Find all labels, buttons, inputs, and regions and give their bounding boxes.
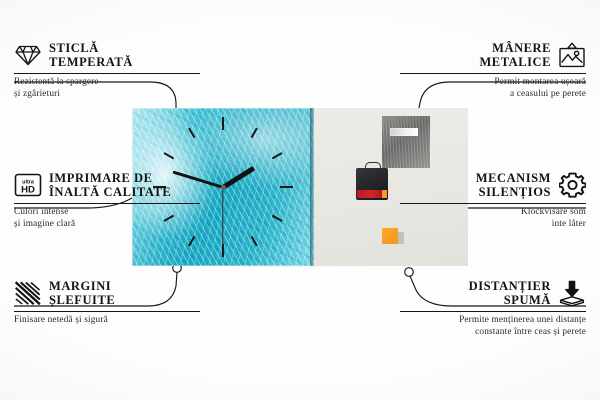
feature-rule xyxy=(14,203,200,204)
feature-title: IMPRIMARE DE ÎNALTĂ CALITATE xyxy=(49,171,171,200)
feature-subtitle: Klockvisare som inte låter xyxy=(400,207,586,231)
metal-hanger-plate xyxy=(382,116,430,168)
feature-header: MECANISM SILENȚIOS xyxy=(400,170,586,200)
battery xyxy=(357,190,387,198)
feature-rule xyxy=(14,73,200,74)
feature-title: MÂNERE METALICE xyxy=(479,41,551,70)
feature-metal-handles: MÂNERE METALICE Permit montarea ușoară a… xyxy=(400,40,586,101)
feature-rule xyxy=(400,311,586,312)
clock-movement-box xyxy=(356,168,388,200)
feature-rule xyxy=(400,73,586,74)
feature-high-quality-print: ultra HD IMPRIMARE DE ÎNALTĂ CALITATE Cu… xyxy=(14,170,200,231)
feature-title: STICLĂ TEMPERATĂ xyxy=(49,41,133,70)
feature-subtitle: Permite menținerea unei distanțe constan… xyxy=(400,315,586,339)
feature-tempered-glass: STICLĂ TEMPERATĂ Rezistentă la spargere … xyxy=(14,40,200,101)
feature-foam-spacer: DISTANȚIER SPUMĂ Permite menținerea unei… xyxy=(400,278,586,339)
feature-subtitle: Permit montarea ușoară a ceasului pe per… xyxy=(400,77,586,101)
product-infographic: STICLĂ TEMPERATĂ Rezistentă la spargere … xyxy=(0,0,600,400)
feature-silent-movement: MECANISM SILENȚIOS Klockvisare som inte … xyxy=(400,170,586,231)
feature-rule xyxy=(400,203,586,204)
battery-terminal xyxy=(382,190,387,198)
feature-rule xyxy=(14,311,200,312)
gear-icon xyxy=(558,171,586,199)
feature-title: DISTANȚIER SPUMĂ xyxy=(469,279,551,308)
feature-polished-edges: MARGINI ȘLEFUITE Finisare netedă și sigu… xyxy=(14,278,200,327)
feature-header: DISTANȚIER SPUMĂ xyxy=(400,278,586,308)
hanger-slot xyxy=(390,128,418,136)
feature-header: MARGINI ȘLEFUITE xyxy=(14,278,200,308)
diamond-icon xyxy=(14,41,42,69)
foam-spacer-arrow-icon xyxy=(558,279,586,307)
feature-subtitle: Rezistentă la spargere și zgârieturi xyxy=(14,77,200,101)
feature-title: MECANISM SILENȚIOS xyxy=(476,171,551,200)
feature-subtitle: Finisare netedă și sigură xyxy=(14,315,200,327)
polished-edges-icon xyxy=(14,279,42,307)
feature-header: ultra HD IMPRIMARE DE ÎNALTĂ CALITATE xyxy=(14,170,200,200)
feature-header: STICLĂ TEMPERATĂ xyxy=(14,40,200,70)
feature-subtitle: Culori intense și imagine clară xyxy=(14,207,200,231)
feature-title: MARGINI ȘLEFUITE xyxy=(49,279,115,308)
movement-hanger-hook xyxy=(365,162,381,171)
ultra-hd-icon: ultra HD xyxy=(14,171,42,199)
hanging-frame-icon xyxy=(558,41,586,69)
feature-header: MÂNERE METALICE xyxy=(400,40,586,70)
svg-text:HD: HD xyxy=(21,184,35,195)
foam-spacer-pad xyxy=(382,228,398,244)
